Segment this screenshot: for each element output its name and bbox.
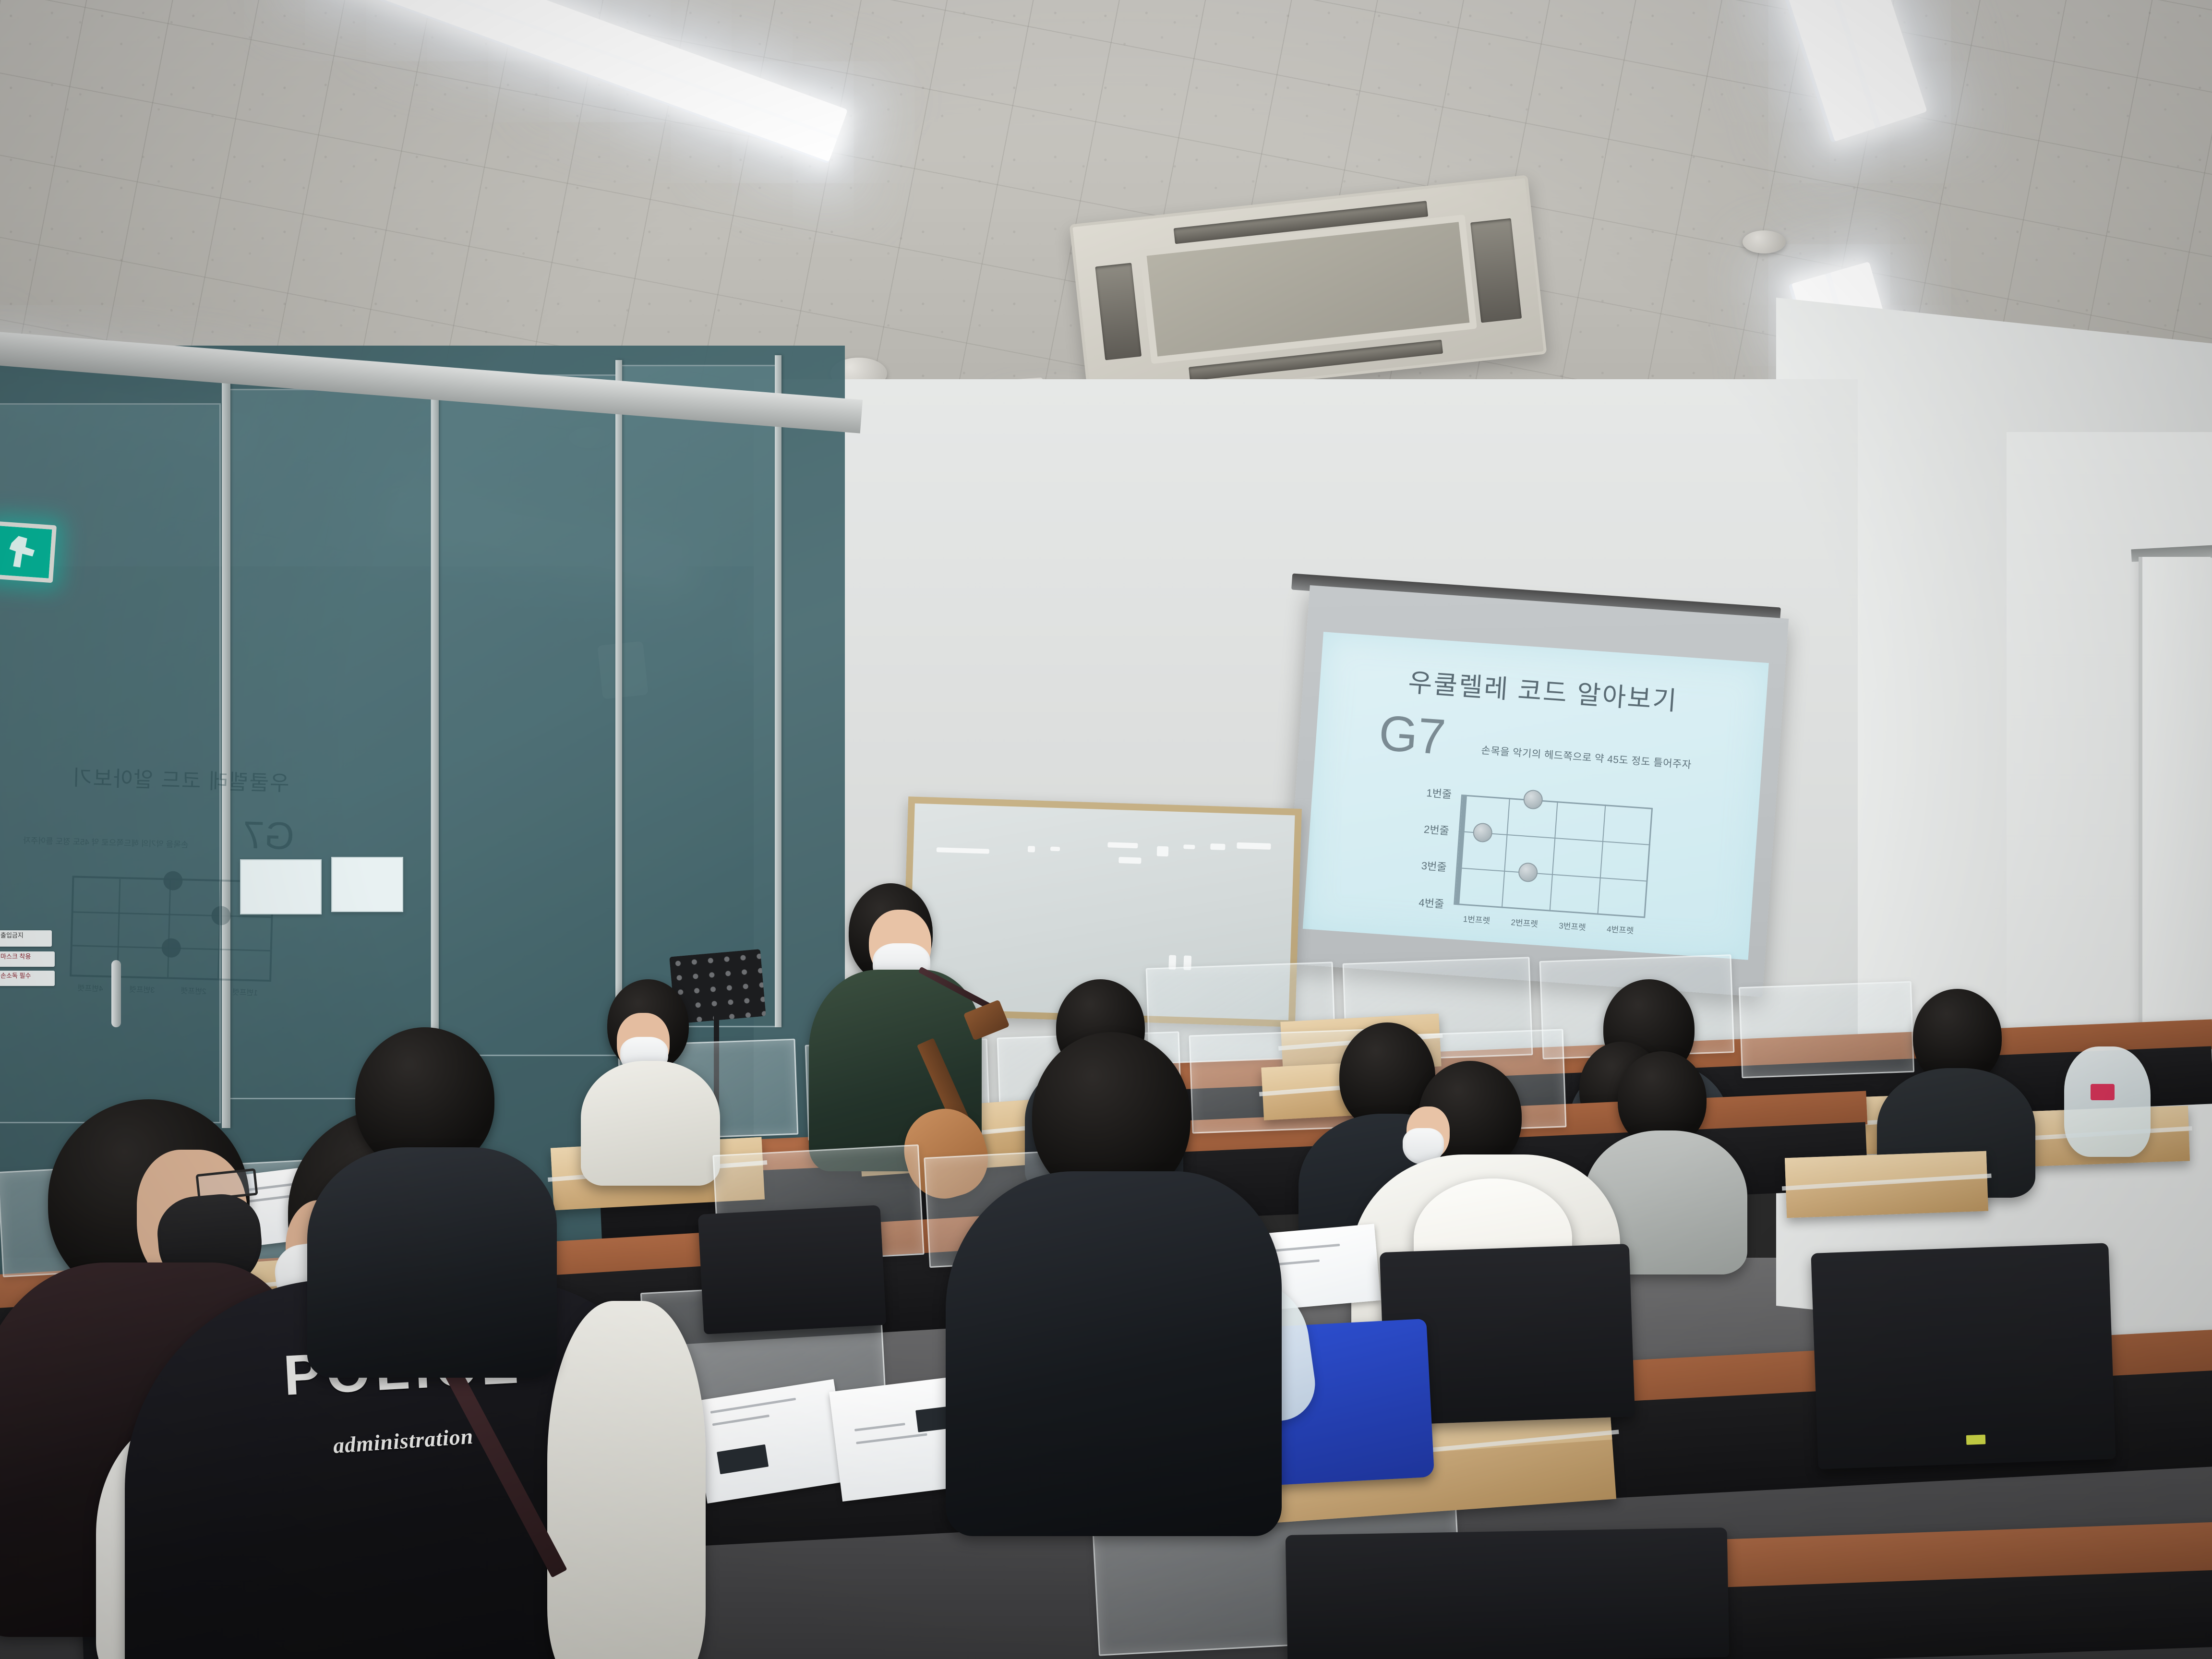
- classroom-photo: 우쿨렐레 코드 알아보기 G7 손목을 악기의 헤드쪽으로 약 45도 정도 틀…: [0, 0, 2212, 1659]
- chord-fret-label: 4번프렛: [1606, 922, 1634, 936]
- projection-screen: 우쿨렐레 코드 알아보기 G7 손목을 악기의 헤드쪽으로 약 45도 정도 틀…: [1284, 585, 1789, 997]
- reflection-fret-labels: 1번프렛 2번프렛 3번프렛 4번프렛: [64, 981, 271, 998]
- chair[interactable]: [1286, 1527, 1730, 1659]
- chord-fret-label: 1번프렛: [1463, 912, 1491, 926]
- torso: [307, 1147, 557, 1378]
- chord-string-label: 1번줄: [1426, 784, 1452, 802]
- wall-mounted-board: [2139, 557, 2211, 1094]
- reflection-chord-name: G7: [242, 813, 295, 859]
- reflection-fret-label: 2번프렛: [180, 984, 206, 996]
- glass-sticker: 손소독 필수: [0, 971, 55, 986]
- glass-sticker: 출입금지: [0, 930, 52, 947]
- slide-chord-name: G7: [1377, 708, 1447, 762]
- glass-mullion: [431, 370, 439, 1090]
- jacket-sleeve: [547, 1301, 706, 1659]
- torso: [946, 1171, 1282, 1536]
- reflection-title: 우쿨렐레 코드 알아보기: [31, 759, 329, 798]
- glass-mullion: [615, 360, 622, 1051]
- glass-panel: [434, 374, 617, 1056]
- ukulele-box: [1785, 1151, 1988, 1218]
- reflection-fret-label: 4번프렛: [77, 982, 103, 994]
- reflection-fret-label: 3번프렛: [129, 983, 155, 995]
- plastic-shopping-bag: [2064, 1046, 2151, 1157]
- ac-vent: [1470, 218, 1522, 323]
- glass-notice-paper: [331, 857, 403, 912]
- reflection-fret-label: 1번프렛: [232, 986, 258, 998]
- glass-door-handle[interactable]: [111, 960, 121, 1027]
- smoke-detector-icon: [1743, 230, 1786, 253]
- desk-divider: [1739, 981, 1914, 1078]
- chord-fret-label: 3번프렛: [1559, 919, 1587, 933]
- slide-subtitle: 손목을 악기의 헤드쪽으로 약 45도 정도 틀어주자: [1481, 743, 1692, 772]
- reflection-subtitle: 손목을 악기의 헤드쪽으로 약 45도 정도 틀어주자: [23, 834, 189, 850]
- glass-sticker: 마스크 착용: [0, 951, 55, 967]
- exit-sign: [0, 521, 57, 583]
- chord-string-label: 4번줄: [1418, 894, 1444, 912]
- glass-panel: [619, 365, 778, 1027]
- chair[interactable]: [1811, 1243, 2116, 1469]
- ac-vent: [1095, 263, 1142, 361]
- chair-tag: [1966, 1435, 1986, 1445]
- glass-notice-paper: [240, 859, 322, 914]
- bag-logo-icon: [2091, 1084, 2115, 1100]
- torso: [581, 1061, 720, 1186]
- chord-string-label: 3번줄: [1421, 857, 1447, 875]
- chord-fret-label: 2번프렛: [1511, 915, 1539, 929]
- projection-screen-surface: 우쿨렐레 코드 알아보기 G7 손목을 악기의 헤드쪽으로 약 45도 정도 틀…: [1303, 632, 1769, 960]
- glass-mullion: [775, 355, 781, 1027]
- chair[interactable]: [698, 1205, 887, 1334]
- chord-diagram: 1번줄 2번줄 3번줄 4번줄 1번프렛 2번프렛: [1399, 782, 1696, 946]
- chord-string-label: 2번줄: [1423, 821, 1450, 838]
